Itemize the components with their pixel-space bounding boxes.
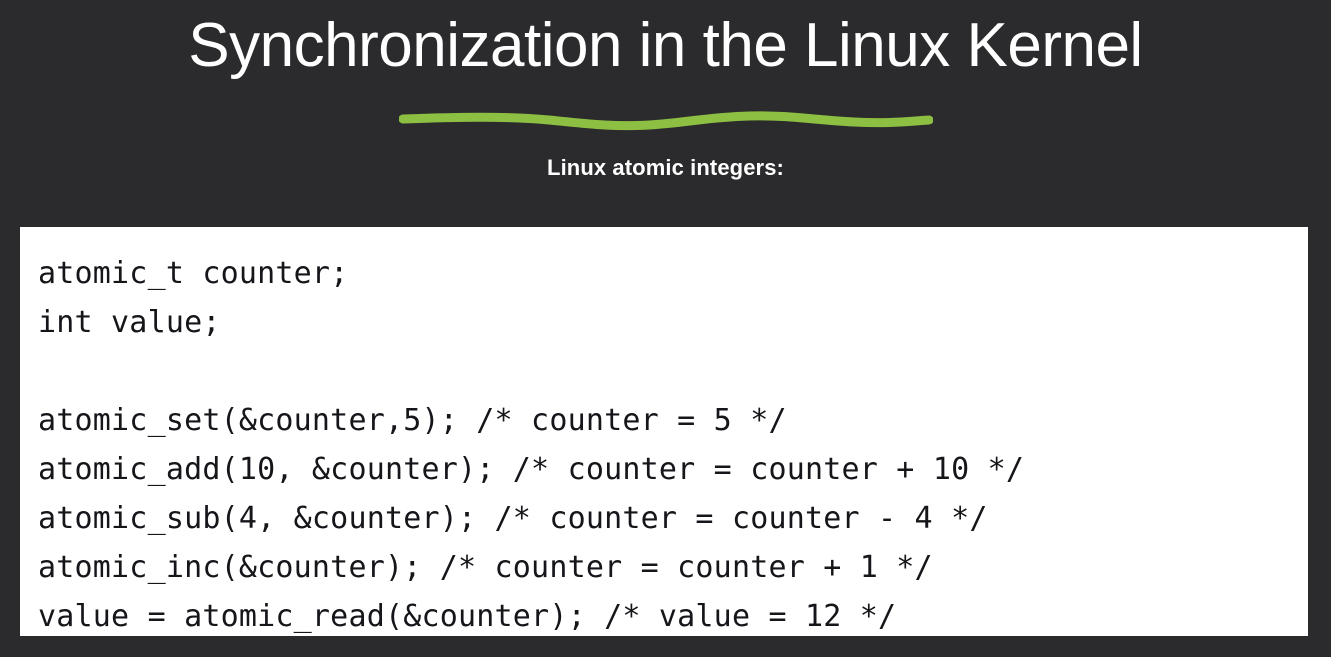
code-line: value = atomic_read(&counter); /* value … [38,592,1308,636]
code-line: atomic_inc(&counter); /* counter = count… [38,543,1308,592]
page-title: Synchronization in the Linux Kernel [0,2,1331,90]
code-line: int value; [38,298,1308,347]
code-line: atomic_add(10, &counter); /* counter = c… [38,445,1308,494]
title-underline-squiggle-icon [399,108,933,134]
code-line: atomic_sub(4, &counter); /* counter = co… [38,494,1308,543]
code-line: atomic_set(&counter,5); /* counter = 5 *… [38,396,1308,445]
presentation-slide: Synchronization in the Linux Kernel Linu… [0,0,1331,657]
code-line: atomic_t counter; [38,249,1308,298]
slide-subtitle: Linux atomic integers: [0,155,1331,181]
code-block: atomic_t counter; int value; atomic_set(… [20,227,1308,636]
code-line-blank [38,347,1308,396]
